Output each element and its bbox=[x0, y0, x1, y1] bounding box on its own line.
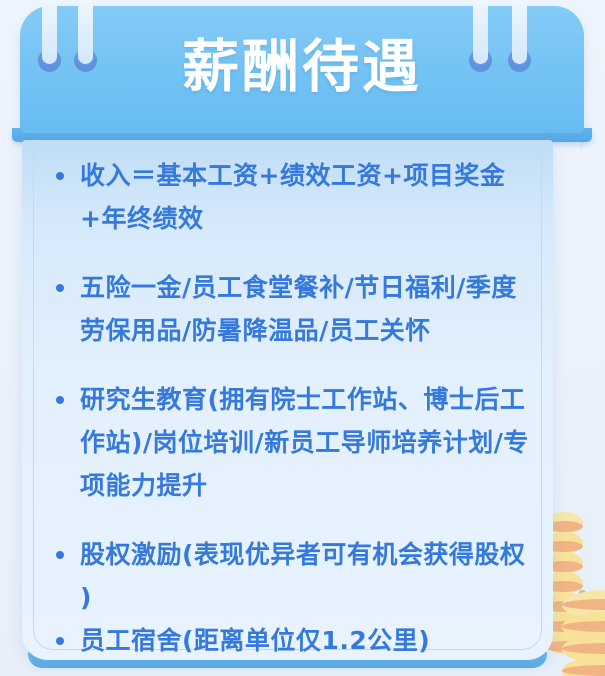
bullet-dot-icon bbox=[56, 284, 64, 292]
list-item: 股权激励(表现优异者可有机会获得股权 ) bbox=[52, 533, 533, 619]
list-item-text: 研究生教育(拥有院士工作站、博士后工作站)/岗位培训/新员工导师培养计划/专项能… bbox=[80, 378, 533, 507]
bullet-dot-icon bbox=[56, 551, 64, 559]
list-item-text: 收入＝基本工资+绩效工资+项目奖金+年终绩效 bbox=[80, 154, 533, 240]
binder-bar-1 bbox=[42, 0, 57, 64]
list-item: 五险一金/员工食堂餐补/节日福利/季度劳保用品/防暑降温品/员工关怀 bbox=[52, 266, 533, 352]
list-item: 收入＝基本工资+绩效工资+项目奖金+年终绩效 bbox=[52, 154, 533, 240]
salary-benefits-poster: 薪酬待遇 收入＝基本工资+绩效工资+项目奖金+年终绩效 五险一金/员工食堂餐补/… bbox=[0, 0, 605, 676]
binder-bar-2 bbox=[78, 0, 93, 64]
benefits-list: 收入＝基本工资+绩效工资+项目奖金+年终绩效 五险一金/员工食堂餐补/节日福利/… bbox=[52, 154, 533, 662]
list-item: 研究生教育(拥有院士工作站、博士后工作站)/岗位培训/新员工导师培养计划/专项能… bbox=[52, 378, 533, 507]
bullet-dot-icon bbox=[56, 396, 64, 404]
green-stick-decoration bbox=[579, 590, 586, 642]
benefits-panel: 收入＝基本工资+绩效工资+项目奖金+年终绩效 五险一金/员工食堂餐补/节日福利/… bbox=[22, 140, 553, 660]
binder-bar-3 bbox=[473, 0, 488, 64]
header-card: 薪酬待遇 bbox=[20, 6, 584, 133]
bullet-dot-icon bbox=[56, 637, 64, 645]
page-title: 薪酬待遇 bbox=[20, 32, 584, 102]
list-item-text: 股权激励(表现优异者可有机会获得股权 ) bbox=[80, 533, 533, 619]
coin-stack-wide-icon bbox=[562, 590, 605, 676]
list-item-text: 员工宿舍(距离单位仅1.2公里) bbox=[80, 619, 533, 662]
list-item: 员工宿舍(距离单位仅1.2公里) bbox=[52, 619, 533, 662]
list-item-text: 五险一金/员工食堂餐补/节日福利/季度劳保用品/防暑降温品/员工关怀 bbox=[80, 266, 533, 352]
binder-bar-4 bbox=[512, 0, 527, 64]
bullet-dot-icon bbox=[56, 172, 64, 180]
